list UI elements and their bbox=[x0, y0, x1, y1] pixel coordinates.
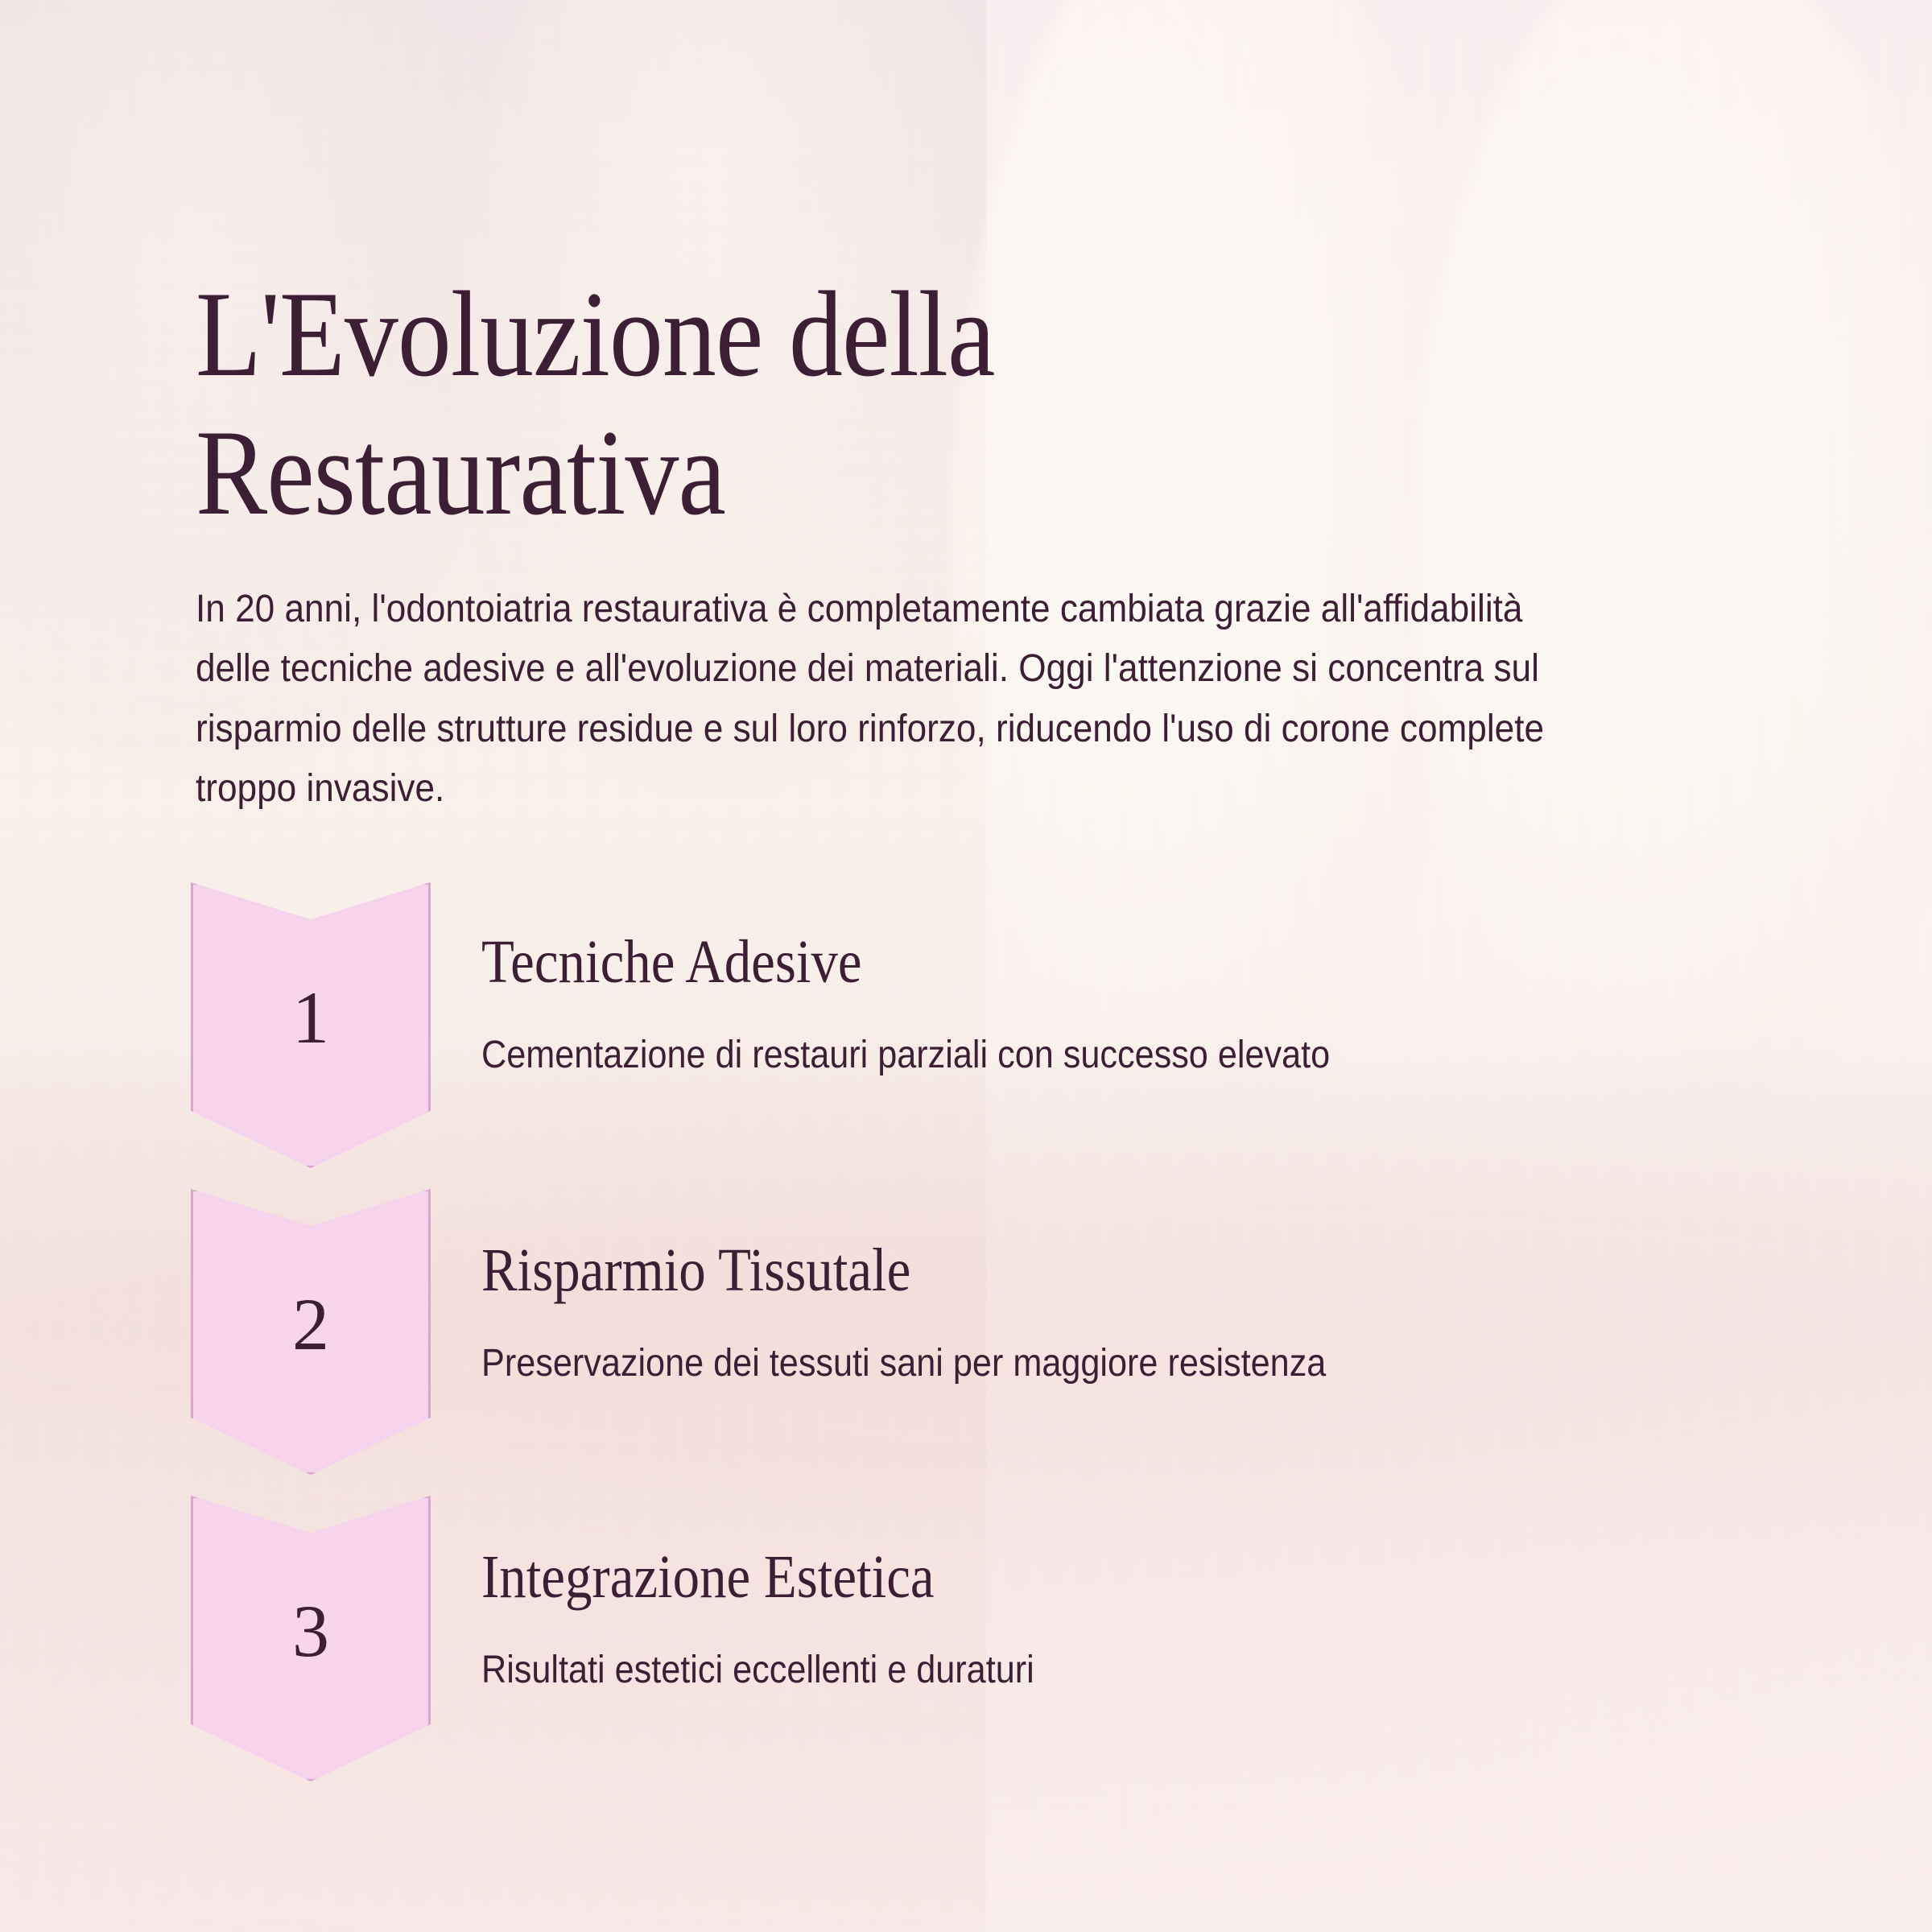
poster-content: L'Evoluzione della Restaurativa In 20 an… bbox=[0, 0, 1932, 1932]
step-number: 2 bbox=[191, 1287, 431, 1361]
step-text-block: Integrazione Estetica Risultati estetici… bbox=[481, 1496, 1850, 1695]
step-title: Tecniche Adesive bbox=[481, 882, 1686, 995]
step-chevron-3: 3 bbox=[191, 1496, 431, 1781]
step-description: Risultati estetici eccellenti e duraturi bbox=[481, 1645, 1713, 1695]
poster-canvas: L'Evoluzione della Restaurativa In 20 an… bbox=[0, 0, 1932, 1932]
step-number: 1 bbox=[191, 980, 431, 1055]
step-description: Preservazione dei tessuti sani per maggi… bbox=[481, 1339, 1713, 1388]
list-item: 2 Risparmio Tissutale Preservazione dei … bbox=[0, 1189, 1932, 1496]
list-item: 3 Integrazione Estetica Risultati esteti… bbox=[0, 1496, 1932, 1802]
list-item: 1 Tecniche Adesive Cementazione di resta… bbox=[0, 882, 1932, 1189]
step-title: Risparmio Tissutale bbox=[481, 1189, 1686, 1303]
page-title: L'Evoluzione della Restaurativa bbox=[196, 266, 1329, 543]
step-number: 3 bbox=[191, 1594, 431, 1668]
intro-paragraph: In 20 anni, l'odontoiatria restaurativa … bbox=[196, 580, 1558, 819]
step-text-block: Tecniche Adesive Cementazione di restaur… bbox=[481, 882, 1850, 1080]
step-text-block: Risparmio Tissutale Preservazione dei te… bbox=[481, 1189, 1850, 1388]
step-title: Integrazione Estetica bbox=[481, 1496, 1686, 1610]
step-chevron-2: 2 bbox=[191, 1189, 431, 1475]
steps-list: 1 Tecniche Adesive Cementazione di resta… bbox=[0, 882, 1932, 1802]
step-chevron-1: 1 bbox=[191, 882, 431, 1168]
step-description: Cementazione di restauri parziali con su… bbox=[481, 1030, 1713, 1080]
